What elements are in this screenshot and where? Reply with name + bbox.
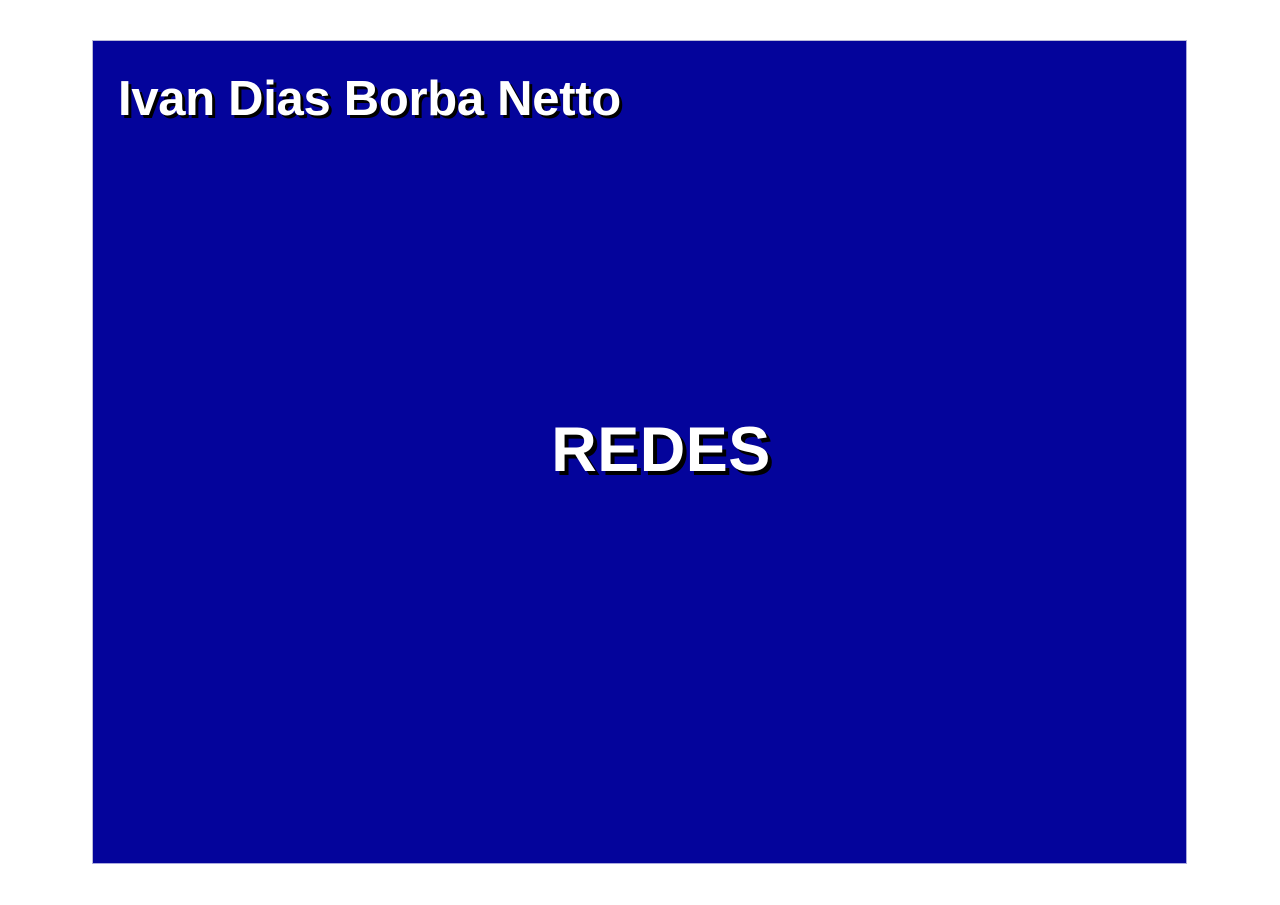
slide-title: Ivan Dias Borba Netto xyxy=(118,73,1158,126)
slide-canvas: Ivan Dias Borba Netto REDES xyxy=(0,0,1280,905)
slide-heading: REDES xyxy=(505,416,771,485)
slide-body: REDES xyxy=(118,361,1158,541)
slide-panel: Ivan Dias Borba Netto REDES xyxy=(92,40,1187,864)
